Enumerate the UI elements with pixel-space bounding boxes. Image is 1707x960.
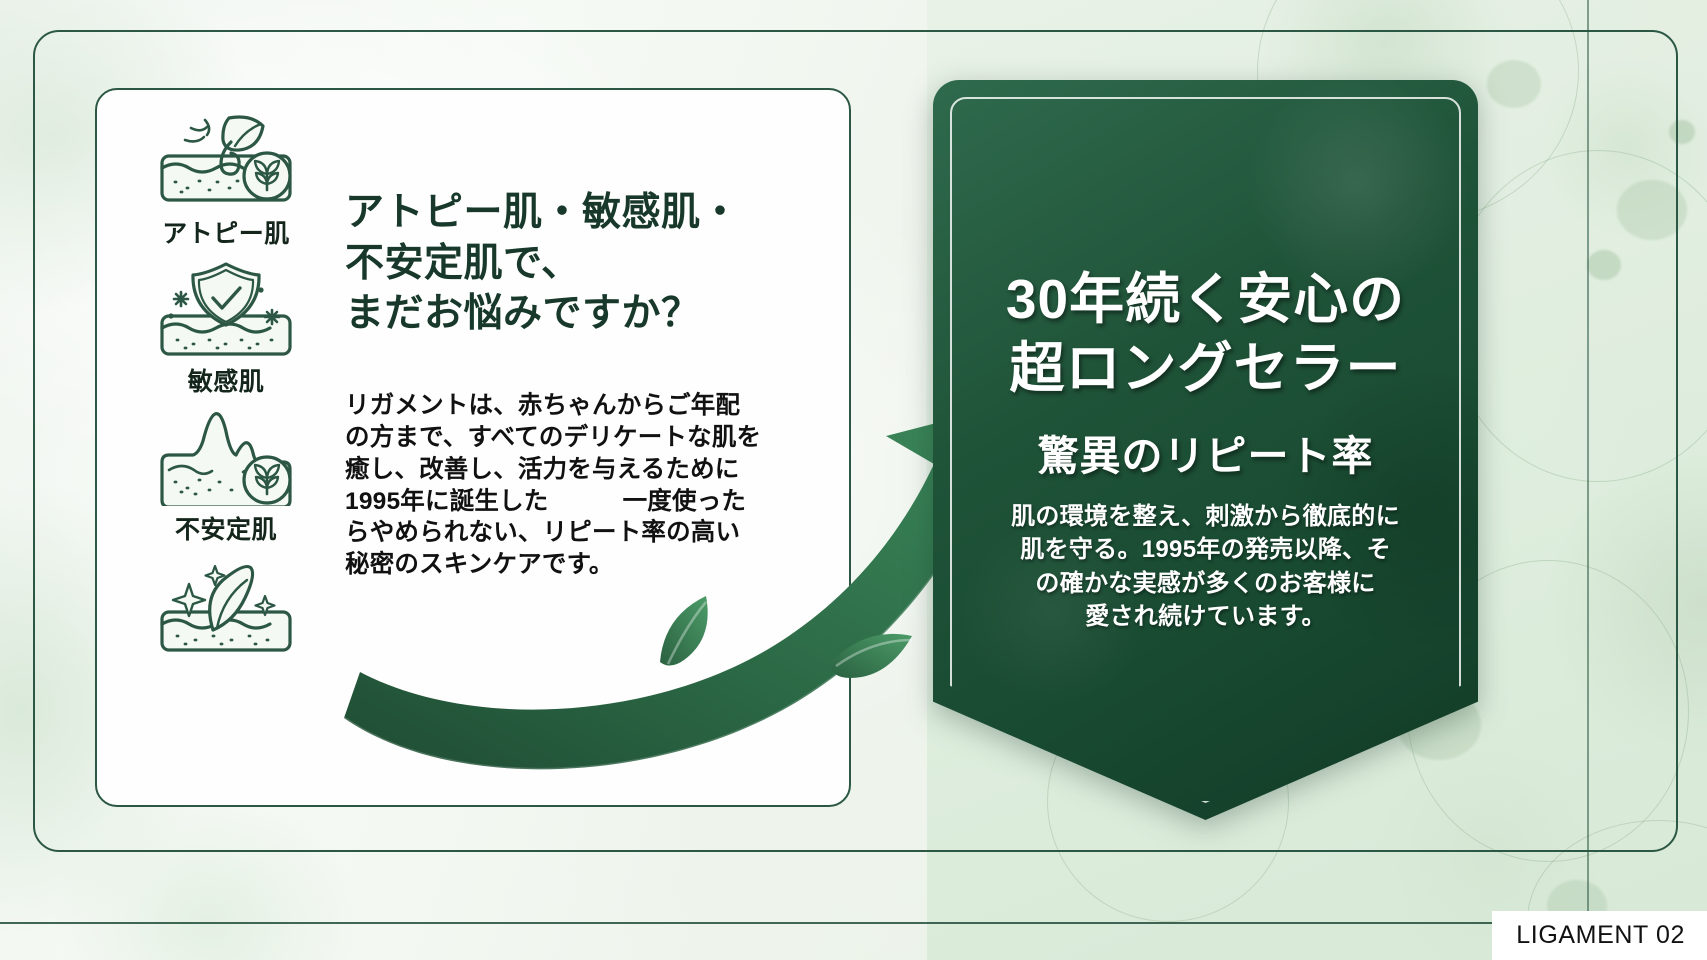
unstable-skin-icon [137, 404, 315, 508]
headline-line-1: アトピー肌・敏感肌・ [345, 188, 815, 239]
skin-condition-icon-list: アトピー肌 [137, 108, 315, 662]
page-title: アトピー肌・敏感肌・ 不安定肌で、 まだお悩みですか？ [345, 188, 815, 340]
footer-vertical-divider [1587, 0, 1589, 960]
banner-body-line-2: 肌を守る。1995年の発売以降、そ [933, 533, 1478, 567]
banner-title-line-1: 30年続く安心の [933, 265, 1478, 334]
atopy-skin-icon [137, 108, 315, 212]
banner-body-line-1: 肌の環境を整え、刺激から徹底的に [933, 500, 1478, 534]
headline-line-3: まだお悩みですか？ [345, 289, 815, 340]
banner-body-line-3: の確かな実感が多くのお客様に [933, 567, 1478, 601]
skin-condition-item: アトピー肌 [137, 108, 315, 250]
right-highlight-banner: 30年続く安心の 超ロングセラー 驚異のリピート率 肌の環境を整え、刺激から徹底… [933, 80, 1478, 820]
banner-body-line-4: 愛され続けています。 [933, 600, 1478, 634]
banner-body-text: 肌の環境を整え、刺激から徹底的に 肌を守る。1995年の発売以降、そ の確かな実… [933, 500, 1478, 634]
skin-condition-item [137, 552, 315, 656]
banner-title: 30年続く安心の 超ロングセラー [933, 265, 1478, 404]
slide-canvas: アトピー肌 [0, 0, 1707, 960]
corner-caption: LIGAMENT 02 [1492, 911, 1707, 960]
banner-title-line-2: 超ロングセラー [933, 334, 1478, 403]
skin-condition-label: 敏感肌 [137, 362, 315, 398]
banner-content: 30年続く安心の 超ロングセラー 驚異のリピート率 肌の環境を整え、刺激から徹底… [933, 80, 1478, 634]
banner-subtitle: 驚異のリピート率 [933, 422, 1478, 482]
skin-condition-item: 敏感肌 [137, 256, 315, 398]
skin-condition-label: 不安定肌 [137, 510, 315, 546]
skin-condition-label: アトピー肌 [137, 214, 315, 250]
healthy-skin-icon [137, 552, 315, 656]
headline-line-2: 不安定肌で、 [345, 239, 815, 290]
footer-divider [0, 922, 1707, 924]
sensitive-skin-icon [137, 256, 315, 360]
skin-condition-item: 不安定肌 [137, 404, 315, 546]
